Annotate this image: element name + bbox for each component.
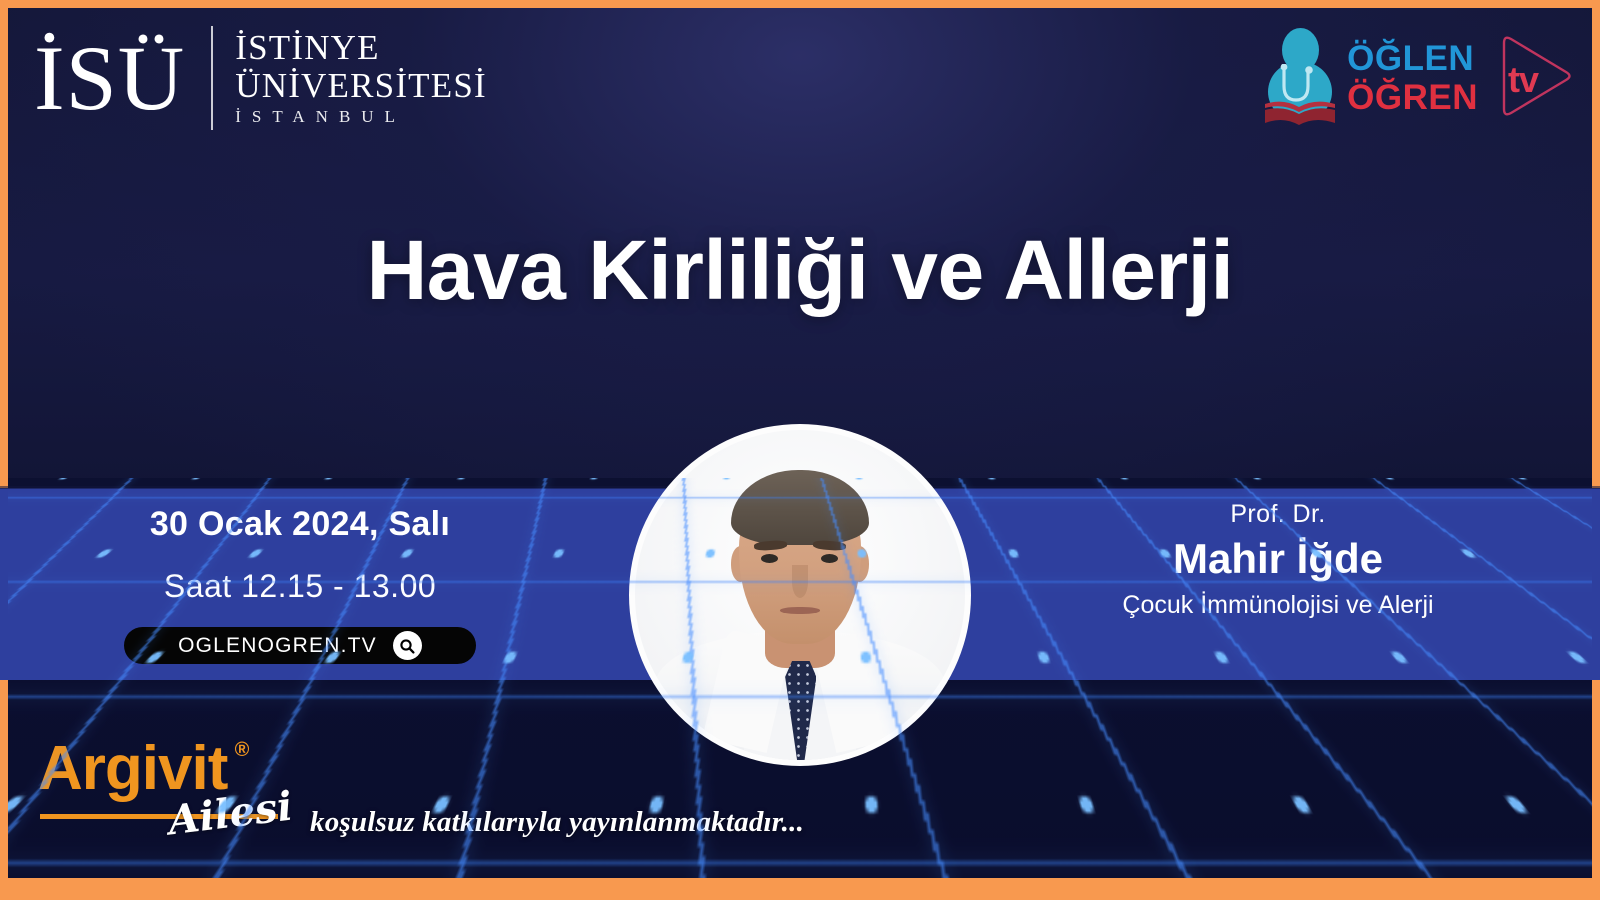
speaker-department: Çocuk İmmünolojisi ve Alerji xyxy=(968,591,1588,620)
registered-trademark-icon: ® xyxy=(235,740,249,760)
avatar-mouth xyxy=(780,607,820,614)
speaker-name: Mahir İğde xyxy=(968,535,1588,583)
channel-logo: ÖĞLEN ÖĞREN tv xyxy=(1263,22,1574,130)
search-icon[interactable] xyxy=(393,631,422,660)
avatar-eye-left xyxy=(761,554,778,563)
event-date: 30 Ocak 2024, Salı xyxy=(0,505,600,544)
university-name-line2: ÜNİVERSİTESİ xyxy=(235,67,487,104)
university-wordmark: İSTİNYE ÜNİVERSİTESİ İSTANBUL xyxy=(213,29,487,126)
tv-label: tv xyxy=(1508,59,1538,101)
channel-wordmark: ÖĞLEN ÖĞREN xyxy=(1347,37,1478,115)
channel-word-ogren: ÖĞREN xyxy=(1347,80,1478,115)
event-details: 30 Ocak 2024, Salı Saat 12.15 - 13.00 OG… xyxy=(0,495,600,664)
channel-word-oglen: ÖĞLEN xyxy=(1347,41,1478,76)
webinar-poster: İSÜ İSTİNYE ÜNİVERSİTESİ İSTANBUL ÖĞLEN … xyxy=(0,0,1600,900)
website-url: OGLENOGREN.TV xyxy=(178,634,377,658)
open-book-icon xyxy=(1263,96,1337,126)
university-logo: İSÜ İSTİNYE ÜNİVERSİTESİ İSTANBUL xyxy=(34,26,487,130)
university-name-line1: İSTİNYE xyxy=(235,29,487,66)
speaker-details: Prof. Dr. Mahir İğde Çocuk İmmünolojisi … xyxy=(968,500,1588,620)
tv-play-badge: tv xyxy=(1490,31,1574,121)
university-monogram: İSÜ xyxy=(34,35,211,121)
poster-title: Hava Kirliliği ve Allerji xyxy=(0,222,1600,319)
website-pill[interactable]: OGLENOGREN.TV xyxy=(124,627,476,664)
avatar-eye-right xyxy=(821,554,838,563)
university-city: İSTANBUL xyxy=(235,107,487,127)
sponsor-logo: Argivit ® Ailesi xyxy=(38,738,338,868)
magnifier-glyph xyxy=(398,637,416,655)
event-time: Saat 12.15 - 13.00 xyxy=(0,568,600,605)
speaker-avatar xyxy=(635,430,965,760)
doctor-figure-icon xyxy=(1263,22,1337,130)
sponsor-tagline: koşulsuz katkılarıyla yayınlanmaktadır..… xyxy=(310,806,804,839)
sponsor-brand-name: Argivit ® xyxy=(38,738,227,800)
speaker-title-prefix: Prof. Dr. xyxy=(968,500,1588,529)
